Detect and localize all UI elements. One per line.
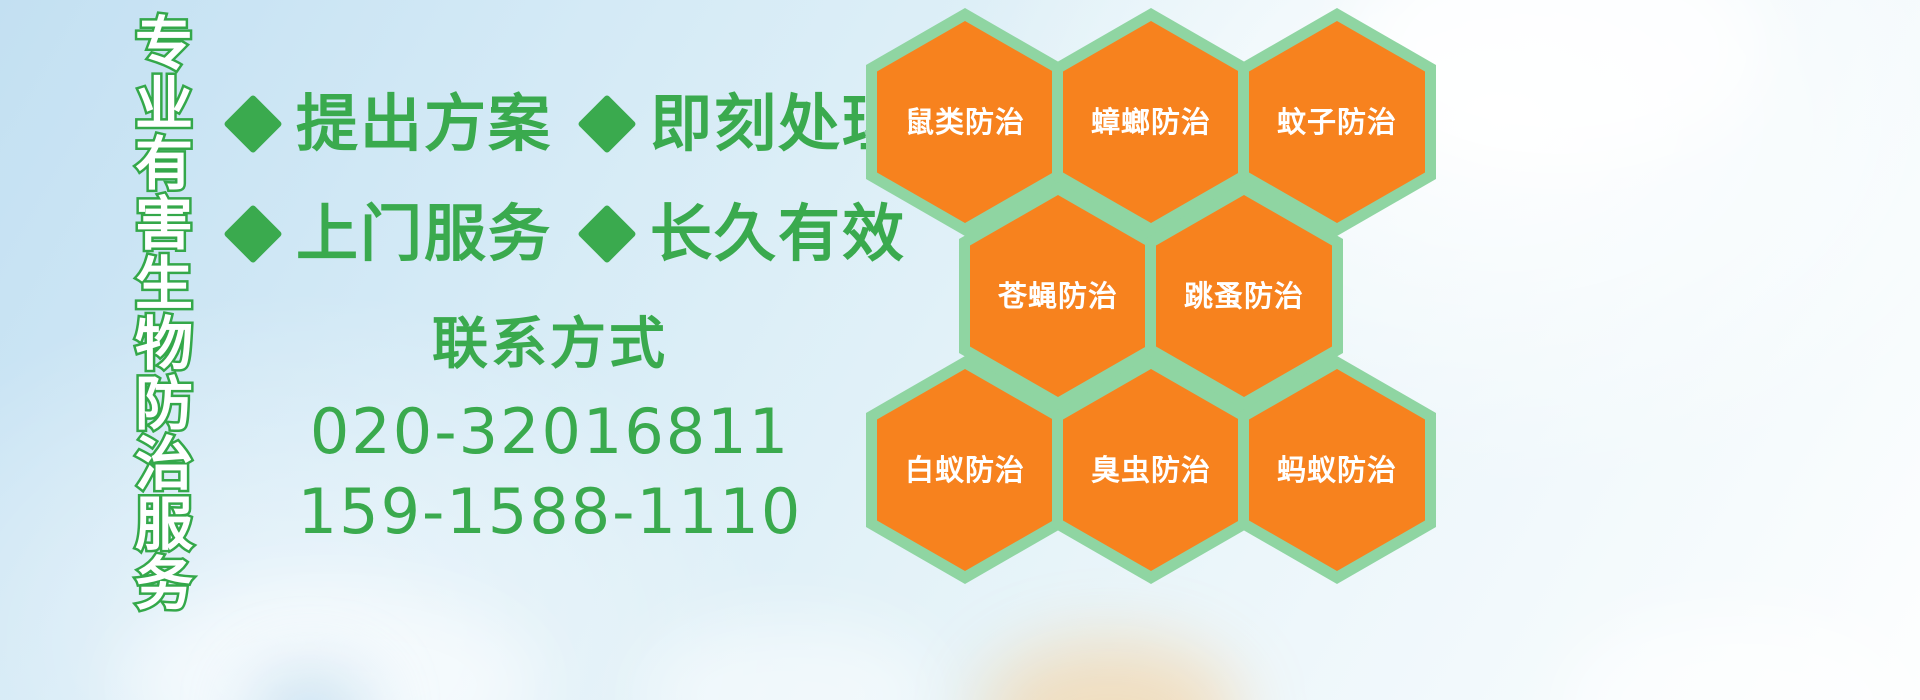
feature-label: 上门服务 bbox=[296, 198, 552, 270]
hex-label: 鼠类防治 bbox=[905, 105, 1025, 139]
headline-char: 专 bbox=[135, 14, 193, 74]
hex-inner: 蚊子防治 bbox=[1249, 21, 1425, 223]
hex-label: 蚊子防治 bbox=[1277, 105, 1397, 139]
headline-char: 生 bbox=[135, 254, 193, 314]
contact-phone-mobile[interactable]: 159-1588-1110 bbox=[298, 472, 803, 552]
contact-block: 联系方式 020-32016811 159-1588-1110 bbox=[240, 312, 860, 552]
hex-inner: 蚂蚁防治 bbox=[1249, 369, 1425, 571]
contact-title: 联系方式 bbox=[432, 312, 668, 378]
hex-label: 白蚁防治 bbox=[905, 453, 1025, 487]
feature-item-propose-plan: 提出方案 bbox=[232, 88, 552, 160]
headline-char: 害 bbox=[135, 194, 193, 254]
feature-item-on-site-service: 上门服务 bbox=[232, 198, 552, 270]
headline-char: 防 bbox=[135, 374, 193, 434]
hex-label: 蚂蚁防治 bbox=[1277, 453, 1397, 487]
headline-char: 治 bbox=[135, 434, 193, 494]
diamond-icon bbox=[223, 204, 282, 263]
pest-control-banner: 专 业 有 害 生 物 防 治 服 务 提出方案 即刻处理 上门服务 长久有效 bbox=[0, 0, 1920, 700]
hex-label: 臭虫防治 bbox=[1091, 453, 1211, 487]
hex-label: 苍蝇防治 bbox=[998, 279, 1118, 313]
feature-row-1: 提出方案 即刻处理 bbox=[232, 88, 906, 160]
headline-char: 物 bbox=[135, 314, 193, 374]
vertical-headline: 专 业 有 害 生 物 防 治 服 务 bbox=[108, 14, 220, 554]
hex-label: 跳蚤防治 bbox=[1184, 279, 1304, 313]
contact-phone-landline[interactable]: 020-32016811 bbox=[310, 392, 790, 472]
service-honeycomb: 鼠类防治 蟑螂防治 蚊子防治 苍蝇防治 跳蚤防治 白蚁防治 bbox=[860, 0, 1920, 700]
feature-row-2: 上门服务 长久有效 bbox=[232, 198, 906, 270]
hex-inner: 苍蝇防治 bbox=[970, 195, 1146, 397]
diamond-icon bbox=[223, 94, 282, 153]
headline-char: 有 bbox=[135, 134, 193, 194]
hex-inner: 臭虫防治 bbox=[1063, 369, 1239, 571]
feature-label: 提出方案 bbox=[296, 88, 552, 160]
diamond-icon bbox=[577, 204, 636, 263]
headline-char: 业 bbox=[135, 74, 193, 134]
hex-label: 蟑螂防治 bbox=[1091, 105, 1211, 139]
background-blob bbox=[250, 670, 370, 700]
headline-char: 服 bbox=[135, 494, 193, 554]
hex-inner: 鼠类防治 bbox=[877, 21, 1053, 223]
feature-item-immediate-handling: 即刻处理 bbox=[586, 88, 906, 160]
diamond-icon bbox=[577, 94, 636, 153]
hex-inner: 跳蚤防治 bbox=[1156, 195, 1332, 397]
feature-item-long-lasting: 长久有效 bbox=[586, 198, 906, 270]
headline-char: 务 bbox=[135, 554, 193, 614]
hex-inner: 白蚁防治 bbox=[877, 369, 1053, 571]
hex-inner: 蟑螂防治 bbox=[1063, 21, 1239, 223]
